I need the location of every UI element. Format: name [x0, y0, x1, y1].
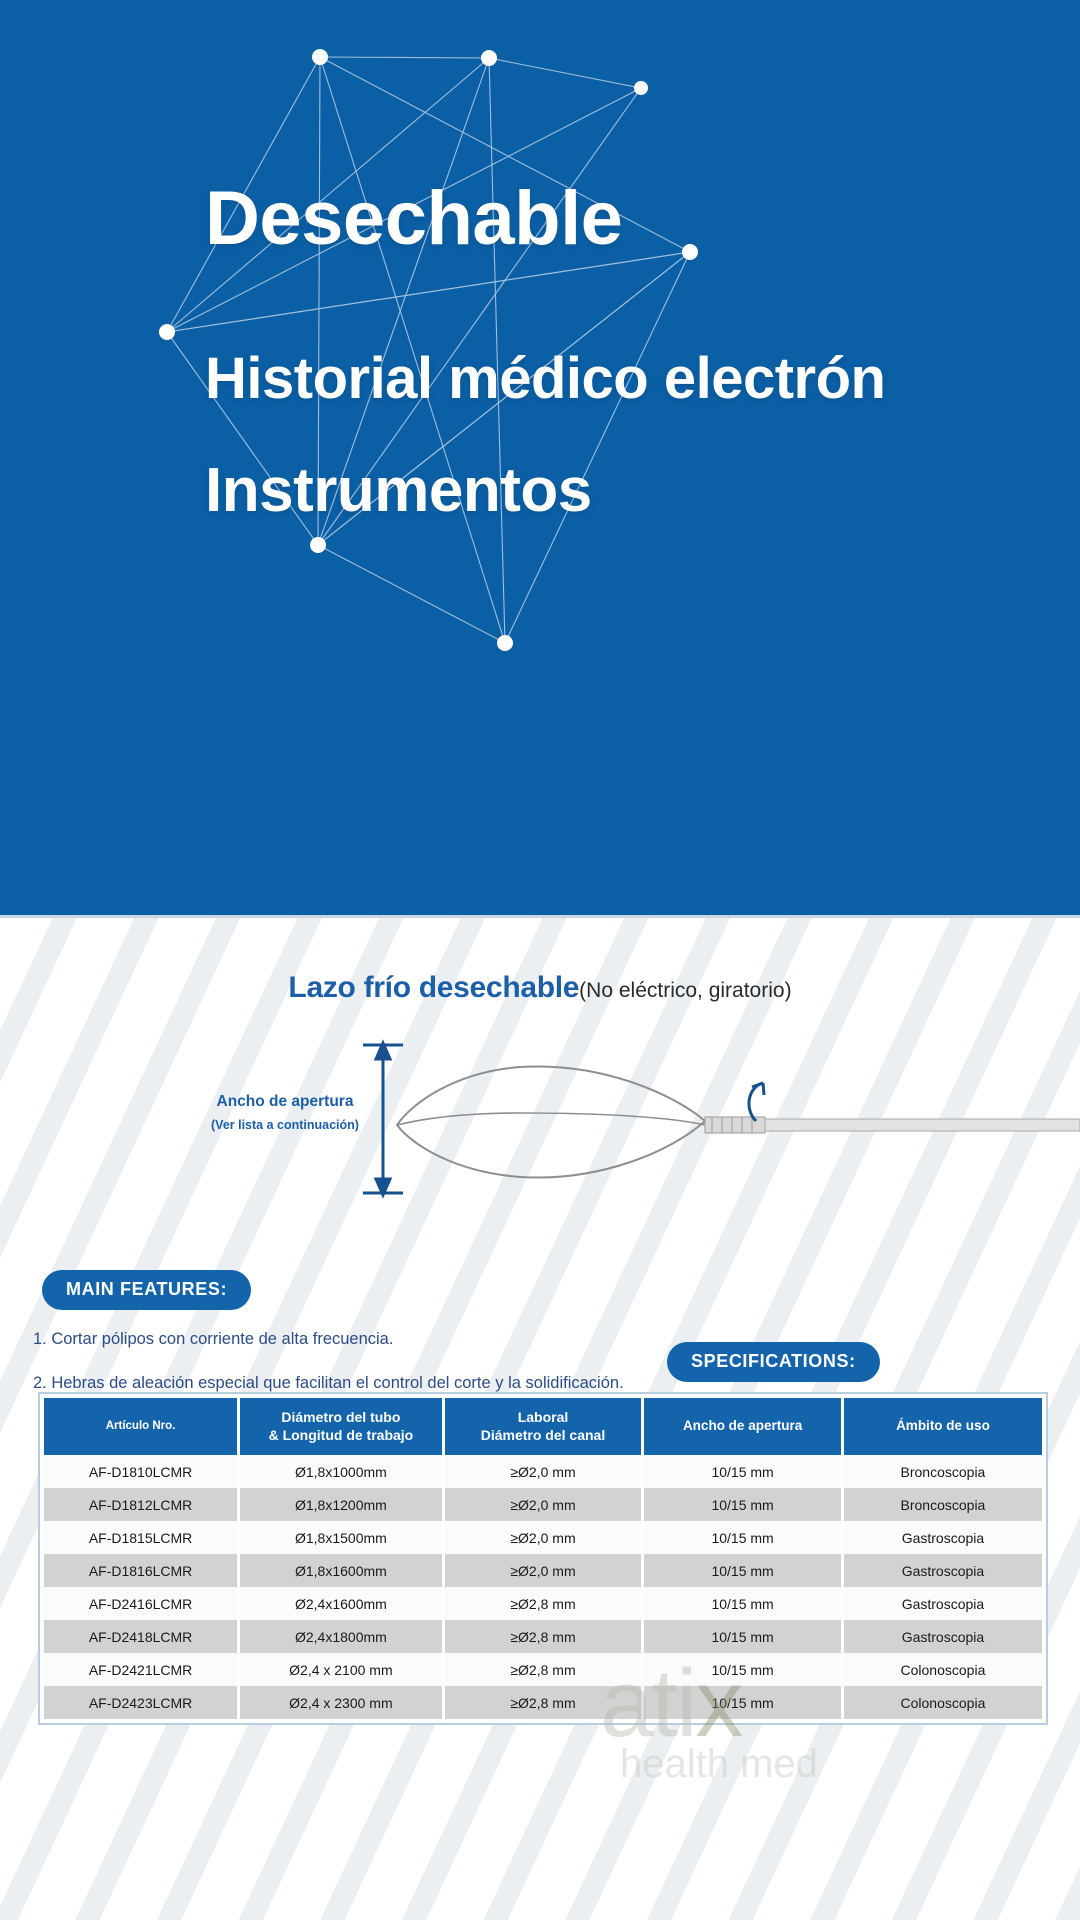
table-cell: Gastroscopia — [842, 1521, 1042, 1554]
table-cell: 10/15 mm — [643, 1455, 843, 1488]
table-cell: Ø1,8x1200mm — [239, 1488, 444, 1521]
table-cell: Broncoscopia — [842, 1488, 1042, 1521]
table-cell: Gastroscopia — [842, 1587, 1042, 1620]
table-cell: AF-D2423LCMR — [44, 1686, 239, 1719]
feature-item: 1. Cortar pólipos con corriente de alta … — [33, 1330, 393, 1349]
table-cell: Gastroscopia — [842, 1554, 1042, 1587]
hero-heading-2: Historial médico electrón — [205, 345, 885, 412]
logo-tagline: health med — [620, 1742, 818, 1787]
table-cell: Ø2,4 x 2100 mm — [239, 1653, 444, 1686]
dimension-label: Ancho de apertura (Ver lista a continuac… — [190, 1093, 380, 1132]
company-logo: atix health med — [600, 1660, 818, 1787]
table-cell: Colonoscopia — [842, 1686, 1042, 1719]
table-cell: Ø2,4x1800mm — [239, 1620, 444, 1653]
table-cell: AF-D1812LCMR — [44, 1488, 239, 1521]
table-header-row: Artículo Nro. Diámetro del tubo & Longit… — [44, 1398, 1042, 1455]
table-cell: ≥Ø2,0 mm — [443, 1521, 643, 1554]
header-line: Ancho de apertura — [683, 1418, 802, 1433]
table-cell: 10/15 mm — [643, 1620, 843, 1653]
column-header-opening-width: Ancho de apertura — [643, 1398, 843, 1455]
table-cell: Ø1,8x1000mm — [239, 1455, 444, 1488]
hero-heading-1: Desechable — [205, 175, 622, 262]
table-cell: ≥Ø2,0 mm — [443, 1554, 643, 1587]
table-cell: Ø2,4 x 2300 mm — [239, 1686, 444, 1719]
table-row: AF-D1815LCMRØ1,8x1500mm≥Ø2,0 mm10/15 mmG… — [44, 1521, 1042, 1554]
table-row: AF-D1812LCMRØ1,8x1200mm≥Ø2,0 mm10/15 mmB… — [44, 1488, 1042, 1521]
table-row: AF-D2421LCMRØ2,4 x 2100 mm≥Ø2,8 mm10/15 … — [44, 1653, 1042, 1686]
table-cell: AF-D2418LCMR — [44, 1620, 239, 1653]
hero-heading-3: Instrumentos — [205, 455, 592, 526]
logo-wordmark: atix — [600, 1660, 818, 1748]
logo-word-accent: x — [695, 1650, 741, 1757]
table-cell: 10/15 mm — [643, 1521, 843, 1554]
rotation-arrow — [749, 1083, 764, 1121]
column-header-article: Artículo Nro. — [44, 1398, 239, 1455]
table-cell: Gastroscopia — [842, 1620, 1042, 1653]
table-cell: AF-D1815LCMR — [44, 1521, 239, 1554]
table-cell: Ø2,4x1600mm — [239, 1587, 444, 1620]
product-title-main: Lazo frío desechable — [288, 971, 579, 1004]
table-cell: AF-D2421LCMR — [44, 1653, 239, 1686]
feature-item: 2. Hebras de aleación especial que facil… — [33, 1374, 624, 1393]
specifications-table: Artículo Nro. Diámetro del tubo & Longit… — [38, 1392, 1048, 1725]
dimension-label-note: (Ver lista a continuación) — [190, 1118, 380, 1132]
header-line: & Longitud de trabajo — [269, 1427, 414, 1443]
column-header-tube-diameter: Diámetro del tubo & Longitud de trabajo — [239, 1398, 444, 1455]
section-divider — [0, 915, 1080, 918]
column-header-channel-diameter: Laboral Diámetro del canal — [443, 1398, 643, 1455]
table-cell: 10/15 mm — [643, 1554, 843, 1587]
logo-word-main: ati — [600, 1650, 695, 1757]
header-line: Artículo Nro. — [106, 1420, 176, 1432]
snare-diagram — [0, 1025, 1080, 1225]
product-title-subtitle: (No eléctrico, giratorio) — [579, 979, 791, 1002]
table-cell: AF-D1810LCMR — [44, 1455, 239, 1488]
table-row: AF-D1810LCMRØ1,8x1000mm≥Ø2,0 mm10/15 mmB… — [44, 1455, 1042, 1488]
table-cell: 10/15 mm — [643, 1587, 843, 1620]
main-features-badge: MAIN FEATURES: — [42, 1270, 251, 1310]
table-cell: ≥Ø2,0 mm — [443, 1488, 643, 1521]
table-cell: Ø1,8x1500mm — [239, 1521, 444, 1554]
header-line: Laboral — [518, 1409, 569, 1425]
specifications-badge: SPECIFICATIONS: — [667, 1342, 880, 1382]
content-area: Lazo frío desechable(No eléctrico, girat… — [0, 915, 1080, 1920]
header-line: Diámetro del canal — [481, 1427, 606, 1443]
table-cell: Ø1,8x1600mm — [239, 1554, 444, 1587]
table-cell: AF-D2416LCMR — [44, 1587, 239, 1620]
column-header-scope: Ámbito de uso — [842, 1398, 1042, 1455]
table-cell: 10/15 mm — [643, 1488, 843, 1521]
page-title: Lazo frío desechable(No eléctrico, girat… — [0, 971, 1080, 1005]
table-cell: ≥Ø2,8 mm — [443, 1620, 643, 1653]
table-row: AF-D2416LCMRØ2,4x1600mm≥Ø2,8 mm10/15 mmG… — [44, 1587, 1042, 1620]
table-cell: ≥Ø2,8 mm — [443, 1587, 643, 1620]
table-row: AF-D2423LCMRØ2,4 x 2300 mm≥Ø2,8 mm10/15 … — [44, 1686, 1042, 1719]
table-row: AF-D1816LCMRØ1,8x1600mm≥Ø2,0 mm10/15 mmG… — [44, 1554, 1042, 1587]
dimension-label-title: Ancho de apertura — [190, 1093, 380, 1111]
table-cell: Colonoscopia — [842, 1653, 1042, 1686]
header-line: Ámbito de uso — [896, 1418, 990, 1433]
table-cell: Broncoscopia — [842, 1455, 1042, 1488]
header-line: Diámetro del tubo — [281, 1409, 400, 1425]
hero-banner: Desechable Historial médico electrón Ins… — [0, 0, 1080, 915]
table-cell: AF-D1816LCMR — [44, 1554, 239, 1587]
table-cell: ≥Ø2,0 mm — [443, 1455, 643, 1488]
table-row: AF-D2418LCMRØ2,4x1800mm≥Ø2,8 mm10/15 mmG… — [44, 1620, 1042, 1653]
